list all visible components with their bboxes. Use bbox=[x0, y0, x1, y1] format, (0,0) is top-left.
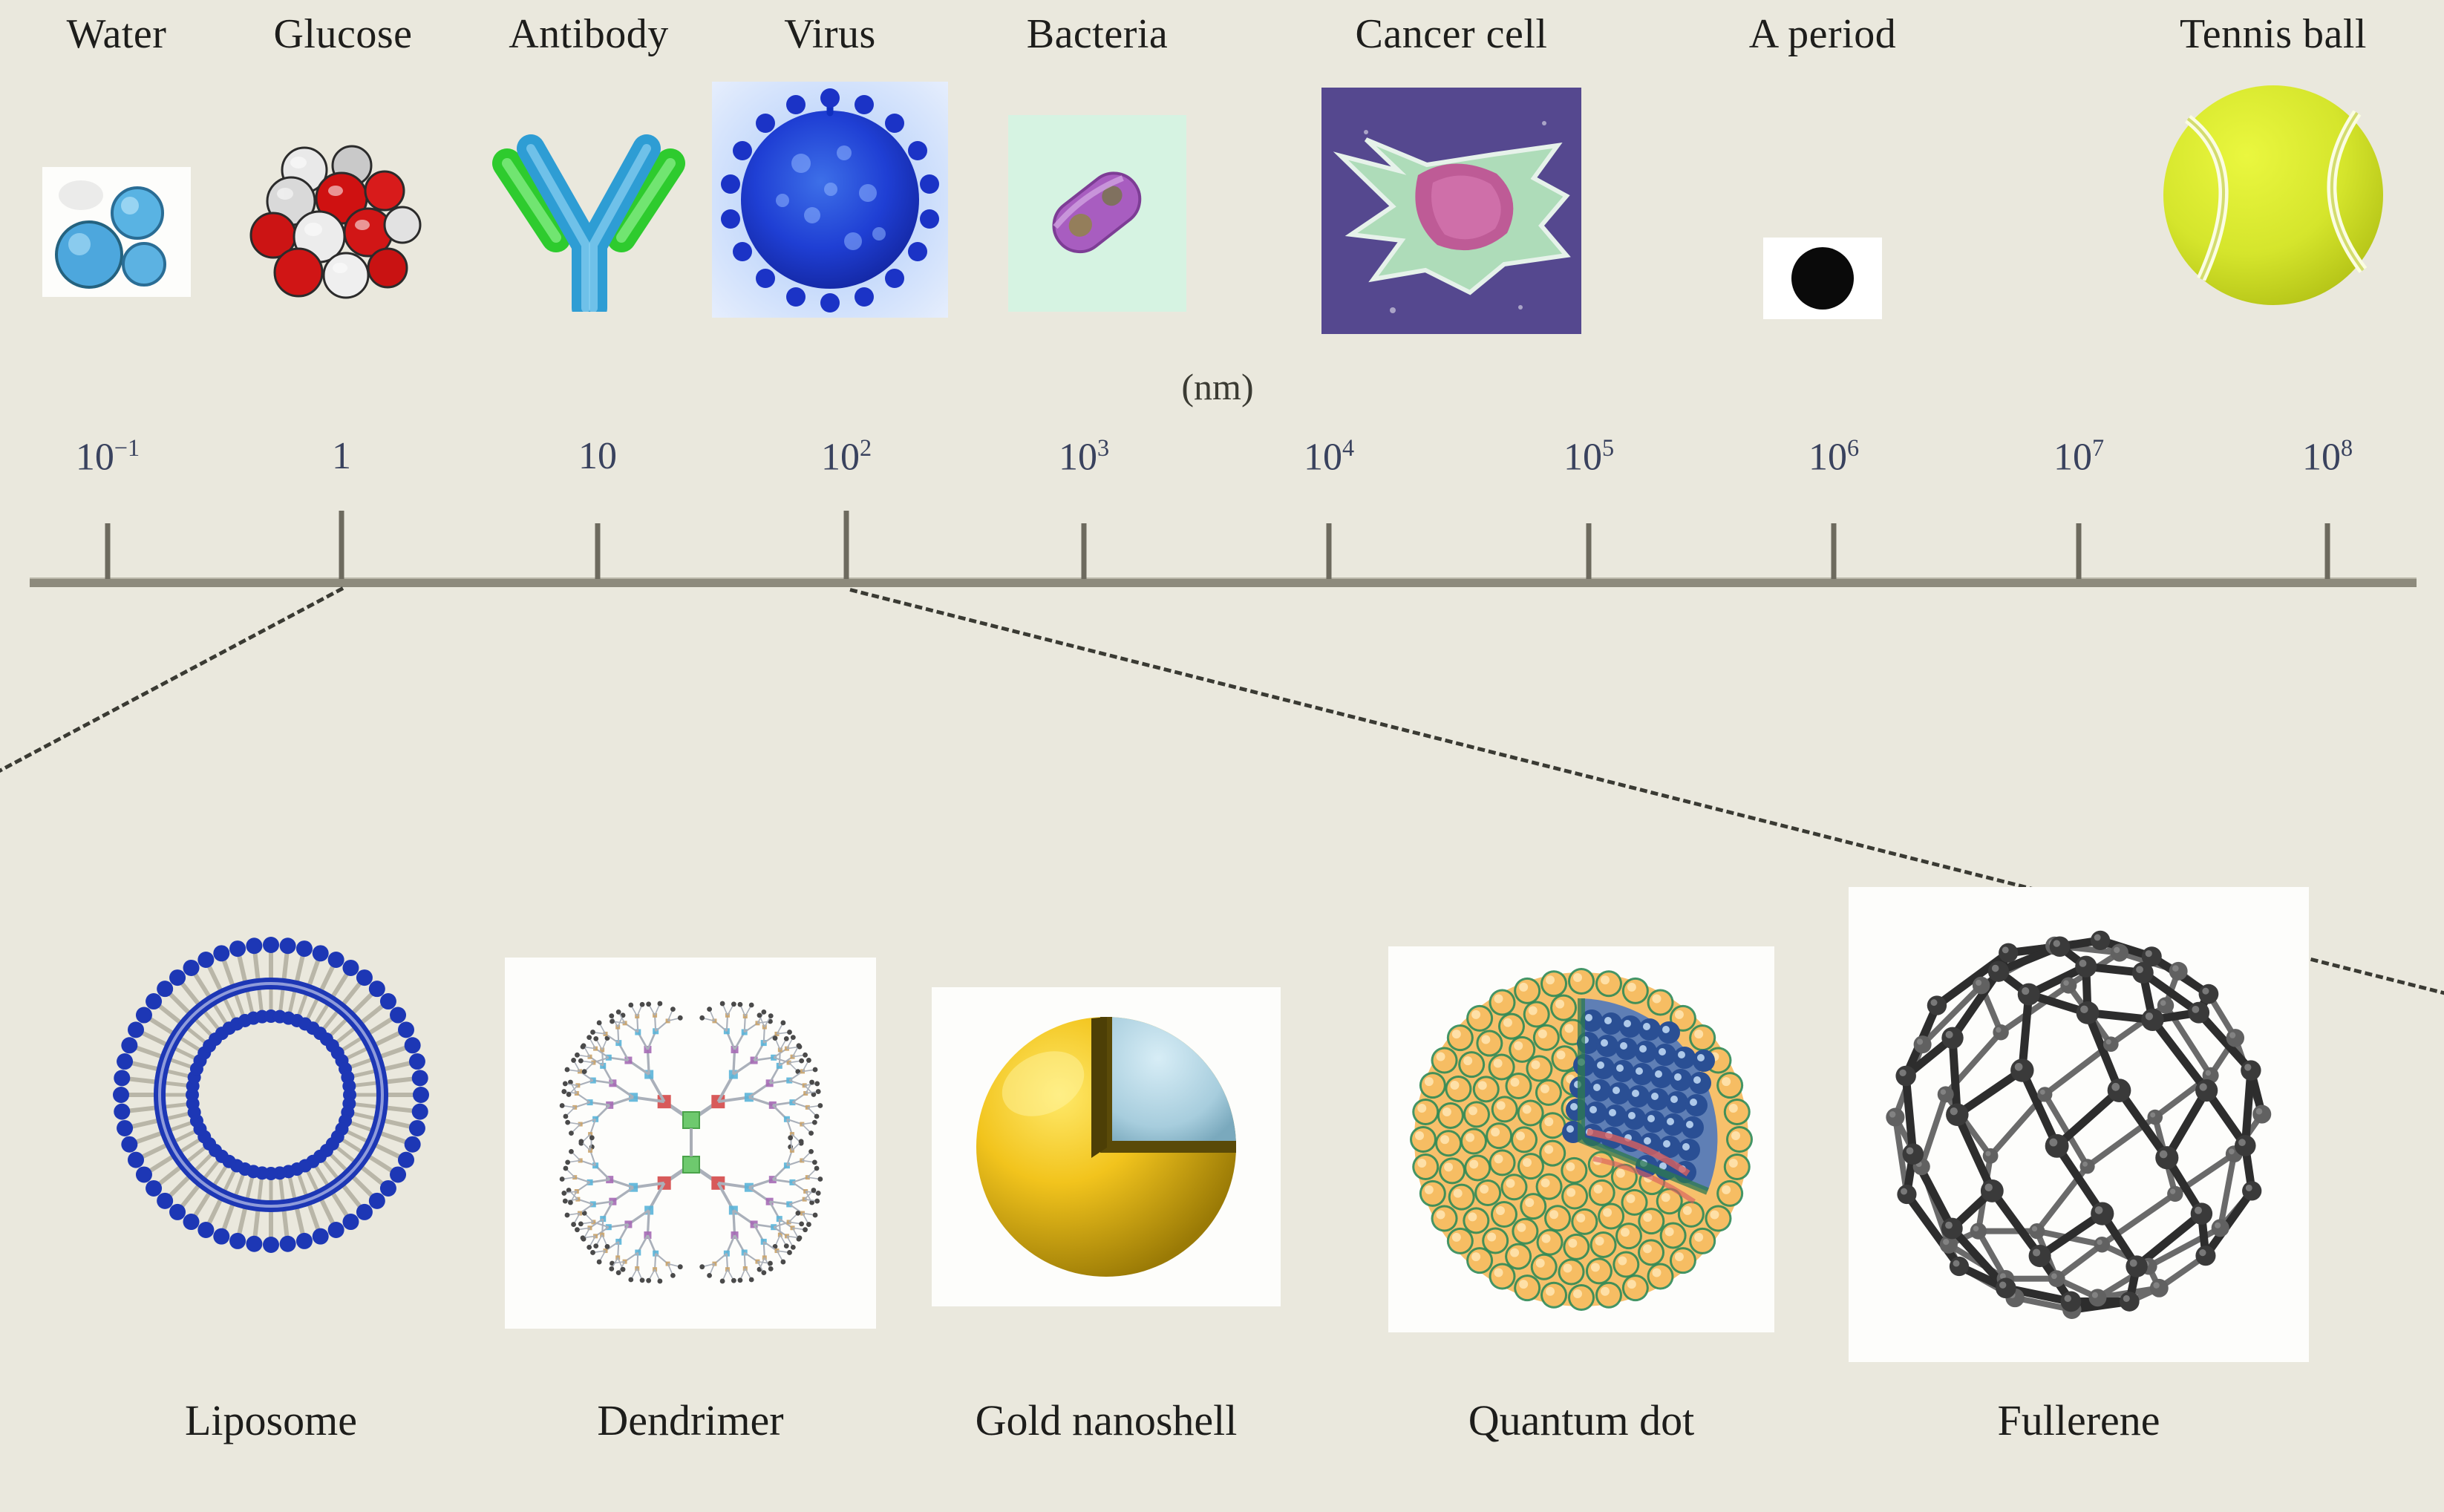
bottom-label-gold-nanoshell: Gold nanoshell bbox=[976, 1395, 1238, 1445]
figure-canvas: Water Glucose Antibody Virus Bacteria Ca… bbox=[0, 0, 2444, 1512]
axis-tick-label-4: 102 bbox=[821, 434, 872, 479]
bottom-label-dendrimer: Dendrimer bbox=[597, 1395, 783, 1445]
axis-tick-10 bbox=[2325, 523, 2330, 579]
axis-tick-2 bbox=[339, 511, 344, 579]
bottom-label-fullerene: Fullerene bbox=[1997, 1395, 2160, 1445]
period-dot-icon bbox=[1763, 238, 1882, 319]
antibody-icon bbox=[485, 134, 693, 312]
axis-tick-label-5: 103 bbox=[1059, 434, 1109, 479]
quantum-dot-icon bbox=[1388, 946, 1774, 1332]
top-label-water: Water bbox=[67, 10, 167, 58]
virus-icon bbox=[712, 82, 948, 318]
axis-tick-8 bbox=[1832, 523, 1837, 579]
fullerene-icon bbox=[1849, 887, 2309, 1362]
axis-tick-7 bbox=[1587, 523, 1592, 579]
bottom-label-quantum-dot: Quantum dot bbox=[1468, 1395, 1694, 1445]
axis-tick-label-7: 105 bbox=[1564, 434, 1614, 479]
axis-tick-label-1: 10−1 bbox=[76, 434, 140, 479]
axis-tick-label-6: 104 bbox=[1304, 434, 1354, 479]
bottom-label-liposome: Liposome bbox=[185, 1395, 357, 1445]
axis-tick-6 bbox=[1327, 523, 1332, 579]
axis-tick-1 bbox=[105, 523, 111, 579]
gold-nanoshell-icon bbox=[932, 987, 1281, 1306]
top-label-antibody: Antibody bbox=[509, 10, 669, 58]
top-label-tennis-ball: Tennis ball bbox=[2180, 10, 2367, 58]
water-molecule-icon bbox=[42, 167, 191, 297]
bacteria-icon bbox=[1008, 115, 1186, 312]
axis-tick-label-3: 10 bbox=[578, 434, 617, 478]
axis-tick-label-8: 106 bbox=[1809, 434, 1859, 479]
axis-line bbox=[30, 577, 2417, 587]
dendrimer-icon bbox=[505, 958, 876, 1329]
axis-tick-label-10: 108 bbox=[2302, 434, 2353, 479]
top-label-virus: Virus bbox=[784, 10, 876, 58]
callout-leader-left bbox=[0, 586, 344, 779]
glucose-molecule-icon bbox=[246, 137, 440, 308]
axis-unit-label: (nm) bbox=[1181, 365, 1253, 408]
top-label-cancer-cell: Cancer cell bbox=[1356, 10, 1548, 58]
axis-tick-label-9: 107 bbox=[2053, 434, 2104, 479]
axis-tick-label-2: 1 bbox=[332, 434, 351, 478]
axis-tick-4 bbox=[844, 511, 849, 579]
cancer-cell-icon bbox=[1321, 88, 1581, 334]
tennis-ball-icon bbox=[2158, 80, 2388, 310]
axis-tick-5 bbox=[1082, 523, 1087, 579]
axis-tick-3 bbox=[595, 523, 601, 579]
top-label-glucose: Glucose bbox=[273, 10, 412, 58]
axis-tick-9 bbox=[2077, 523, 2082, 579]
top-label-a-period: A period bbox=[1749, 10, 1896, 58]
liposome-icon bbox=[104, 928, 438, 1262]
top-label-bacteria: Bacteria bbox=[1027, 10, 1169, 58]
